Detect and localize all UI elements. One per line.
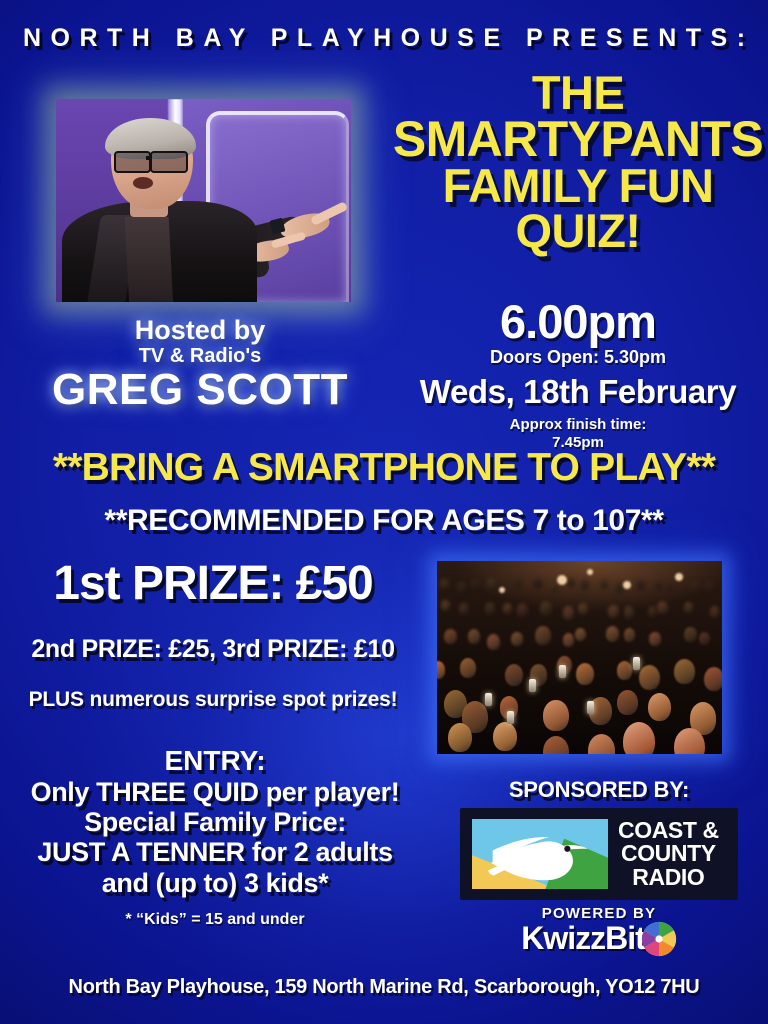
kids-definition-note: * “Kids” = 15 and under (0, 911, 430, 929)
stage-highlight (499, 587, 505, 593)
audience-member (608, 605, 618, 618)
audience-member (468, 629, 480, 644)
sponsored-by-label: SPONSORED BY: (430, 777, 768, 803)
audience-member (444, 629, 456, 644)
kwizzbit-name: KwizzBit (521, 920, 645, 957)
show-title-line-4: QUIZ! (388, 208, 768, 253)
glasses-bridge (146, 156, 152, 161)
audience-member (576, 663, 594, 685)
stage-highlight (623, 581, 631, 589)
audience-photo-image (437, 561, 722, 754)
stage-highlight (675, 573, 683, 581)
venue-address: North Bay Playhouse, 159 North Marine Rd… (0, 976, 768, 999)
audience-member (657, 601, 668, 614)
host-name: GREG SCOTT (0, 365, 400, 415)
audience-member (511, 632, 523, 646)
audience-member (699, 632, 710, 645)
audience-member (578, 603, 588, 615)
audience-member (704, 667, 722, 692)
audience-member (636, 580, 644, 590)
raised-phone (529, 679, 536, 692)
audience-member (690, 581, 700, 593)
glasses-left-lens (114, 151, 152, 173)
audience-member (639, 665, 660, 691)
audience-member (648, 693, 671, 721)
stage-highlight (557, 575, 567, 585)
seagull-icon (472, 819, 608, 889)
audience-member (705, 581, 714, 592)
raised-phone (485, 693, 492, 706)
prizes-block: 1st PRIZE: £50 2nd PRIZE: £25, 3rd PRIZE… (8, 556, 418, 712)
entry-family-kids: and (up to) 3 kids* (0, 868, 430, 898)
age-recommendation: **RECOMMENDED FOR AGES 7 to 107** (0, 504, 768, 538)
audience-member (471, 579, 481, 591)
sponsor-block: SPONSORED BY: COAST & COUNTY RADIO (430, 777, 768, 900)
audience-member (543, 700, 568, 731)
start-time: 6.00pm (388, 298, 768, 345)
audience-member (649, 632, 660, 646)
audience-member (493, 722, 517, 752)
audience-member (588, 734, 615, 754)
entry-block: ENTRY: Only THREE QUID per player! Speci… (0, 745, 430, 929)
sponsor-logo-text: COAST & COUNTY RADIO (618, 819, 719, 889)
presenter-shirt (124, 217, 173, 302)
audience-member (563, 633, 575, 647)
audience-member (535, 626, 551, 645)
audience-member (540, 601, 552, 616)
audience-member (460, 658, 476, 678)
audience-member (485, 602, 496, 615)
presenter-photo (56, 99, 351, 302)
audience-member (624, 606, 634, 618)
audience-member (459, 603, 469, 616)
audience-member (617, 661, 632, 679)
show-title: THE SMARTYPANTS FAMILY FUN QUIZ! (388, 70, 768, 253)
colour-wheel-icon (641, 921, 677, 957)
audience-member (505, 664, 523, 686)
kwizzbit-logo[interactable]: KwizzBit (430, 920, 768, 957)
audience-member (624, 628, 636, 642)
raised-phone (587, 701, 594, 714)
stage-highlight (587, 569, 593, 575)
audience-member (487, 578, 496, 589)
event-date: Weds, 18th February (388, 373, 768, 411)
seagull-glyph (477, 827, 605, 883)
show-title-line-1: THE (388, 70, 768, 115)
finish-time-label: Approx finish time: (388, 416, 768, 434)
audience-photo (437, 561, 722, 754)
audience-member (674, 659, 694, 684)
sponsor-name-line-2: COUNTY (618, 842, 719, 865)
first-prize: 1st PRIZE: £50 (8, 556, 418, 611)
audience-member (600, 579, 608, 589)
audience-member (575, 628, 586, 641)
glasses-right-lens (150, 151, 188, 173)
event-datetime-block: 6.00pm Doors Open: 5.30pm Weds, 18th Feb… (388, 298, 768, 451)
spot-prizes: PLUS numerous surprise spot prizes! (8, 688, 418, 712)
smartphone-notice: **BRING A SMARTPHONE TO PLAY** (0, 446, 768, 490)
powered-by-block: POWERED BY KwizzBit (430, 905, 768, 957)
audience-member (503, 603, 512, 614)
show-title-line-2: SMARTYPANTS (388, 115, 768, 163)
audience-member (563, 606, 574, 620)
audience-member (606, 626, 619, 642)
page-title: NORTH BAY PLAYHOUSE PRESENTS: (0, 24, 768, 53)
audience-member (684, 602, 693, 613)
raised-phone (559, 665, 566, 678)
sponsor-logo[interactable]: COAST & COUNTY RADIO (460, 808, 738, 900)
audience-member (684, 627, 696, 642)
entry-family-label: Special Family Price: (0, 807, 430, 837)
doors-open-time: Doors Open: 5.30pm (388, 347, 768, 368)
audience-member (549, 582, 558, 594)
entry-family-price: JUST A TENNER for 2 adults (0, 837, 430, 867)
show-title-line-3: FAMILY FUN (388, 163, 768, 208)
entry-price-player: Only THREE QUID per player! (0, 777, 430, 807)
hosted-by-block: Hosted by TV & Radio's GREG SCOTT (0, 315, 400, 415)
raised-phone (507, 711, 514, 724)
audience-member (617, 690, 638, 715)
audience-member (517, 603, 528, 617)
audience-member (567, 578, 575, 587)
audience-member (710, 606, 719, 617)
audience-member (666, 582, 673, 591)
audience-member (437, 661, 445, 679)
audience-member (487, 634, 500, 650)
audience-member (623, 722, 655, 754)
stage-light-glow (437, 561, 722, 634)
entry-heading: ENTRY: (0, 745, 430, 777)
sponsor-name-line-3: RADIO (618, 866, 719, 889)
raised-phone (633, 657, 640, 670)
presenter-photo-image (56, 99, 351, 302)
hosted-by-label: Hosted by (0, 315, 400, 346)
audience-member (448, 723, 472, 752)
second-third-prize: 2nd PRIZE: £25, 3rd PRIZE: £10 (8, 635, 418, 664)
audience-member (457, 582, 467, 594)
sponsor-name-line-1: COAST & (618, 819, 719, 842)
event-poster: NORTH BAY PLAYHOUSE PRESENTS: (0, 0, 768, 1024)
audience-member (440, 579, 448, 589)
audience-member (543, 736, 570, 754)
